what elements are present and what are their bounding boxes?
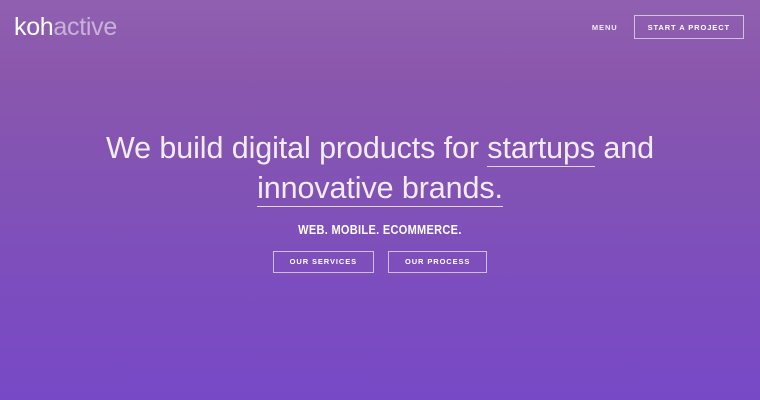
hero-headline: We build digital products for startups a… bbox=[60, 128, 700, 209]
menu-toggle[interactable]: MENU bbox=[592, 23, 618, 32]
headline-part-2: and bbox=[595, 131, 654, 165]
hero-subheading: WEB. MOBILE. ECOMMERCE. bbox=[298, 223, 462, 237]
our-process-button[interactable]: OUR PROCESS bbox=[388, 251, 487, 273]
logo-text-primary: koh bbox=[14, 13, 53, 41]
headline-part-1: We build digital products for bbox=[106, 131, 487, 165]
our-services-button[interactable]: OUR SERVICES bbox=[273, 251, 374, 273]
start-a-project-button[interactable]: START A PROJECT bbox=[634, 15, 744, 39]
headline-emphasis-innovative-brands: innovative brands. bbox=[257, 171, 503, 207]
site-header: kohactive MENU START A PROJECT bbox=[0, 0, 760, 54]
logo[interactable]: kohactive bbox=[14, 15, 117, 40]
hero-section: We build digital products for startups a… bbox=[0, 0, 760, 400]
hero-cta-row: OUR SERVICES OUR PROCESS bbox=[273, 251, 488, 273]
logo-text-secondary: active bbox=[53, 13, 117, 41]
headline-emphasis-startups: startups bbox=[487, 131, 595, 167]
header-nav: MENU START A PROJECT bbox=[592, 15, 744, 39]
